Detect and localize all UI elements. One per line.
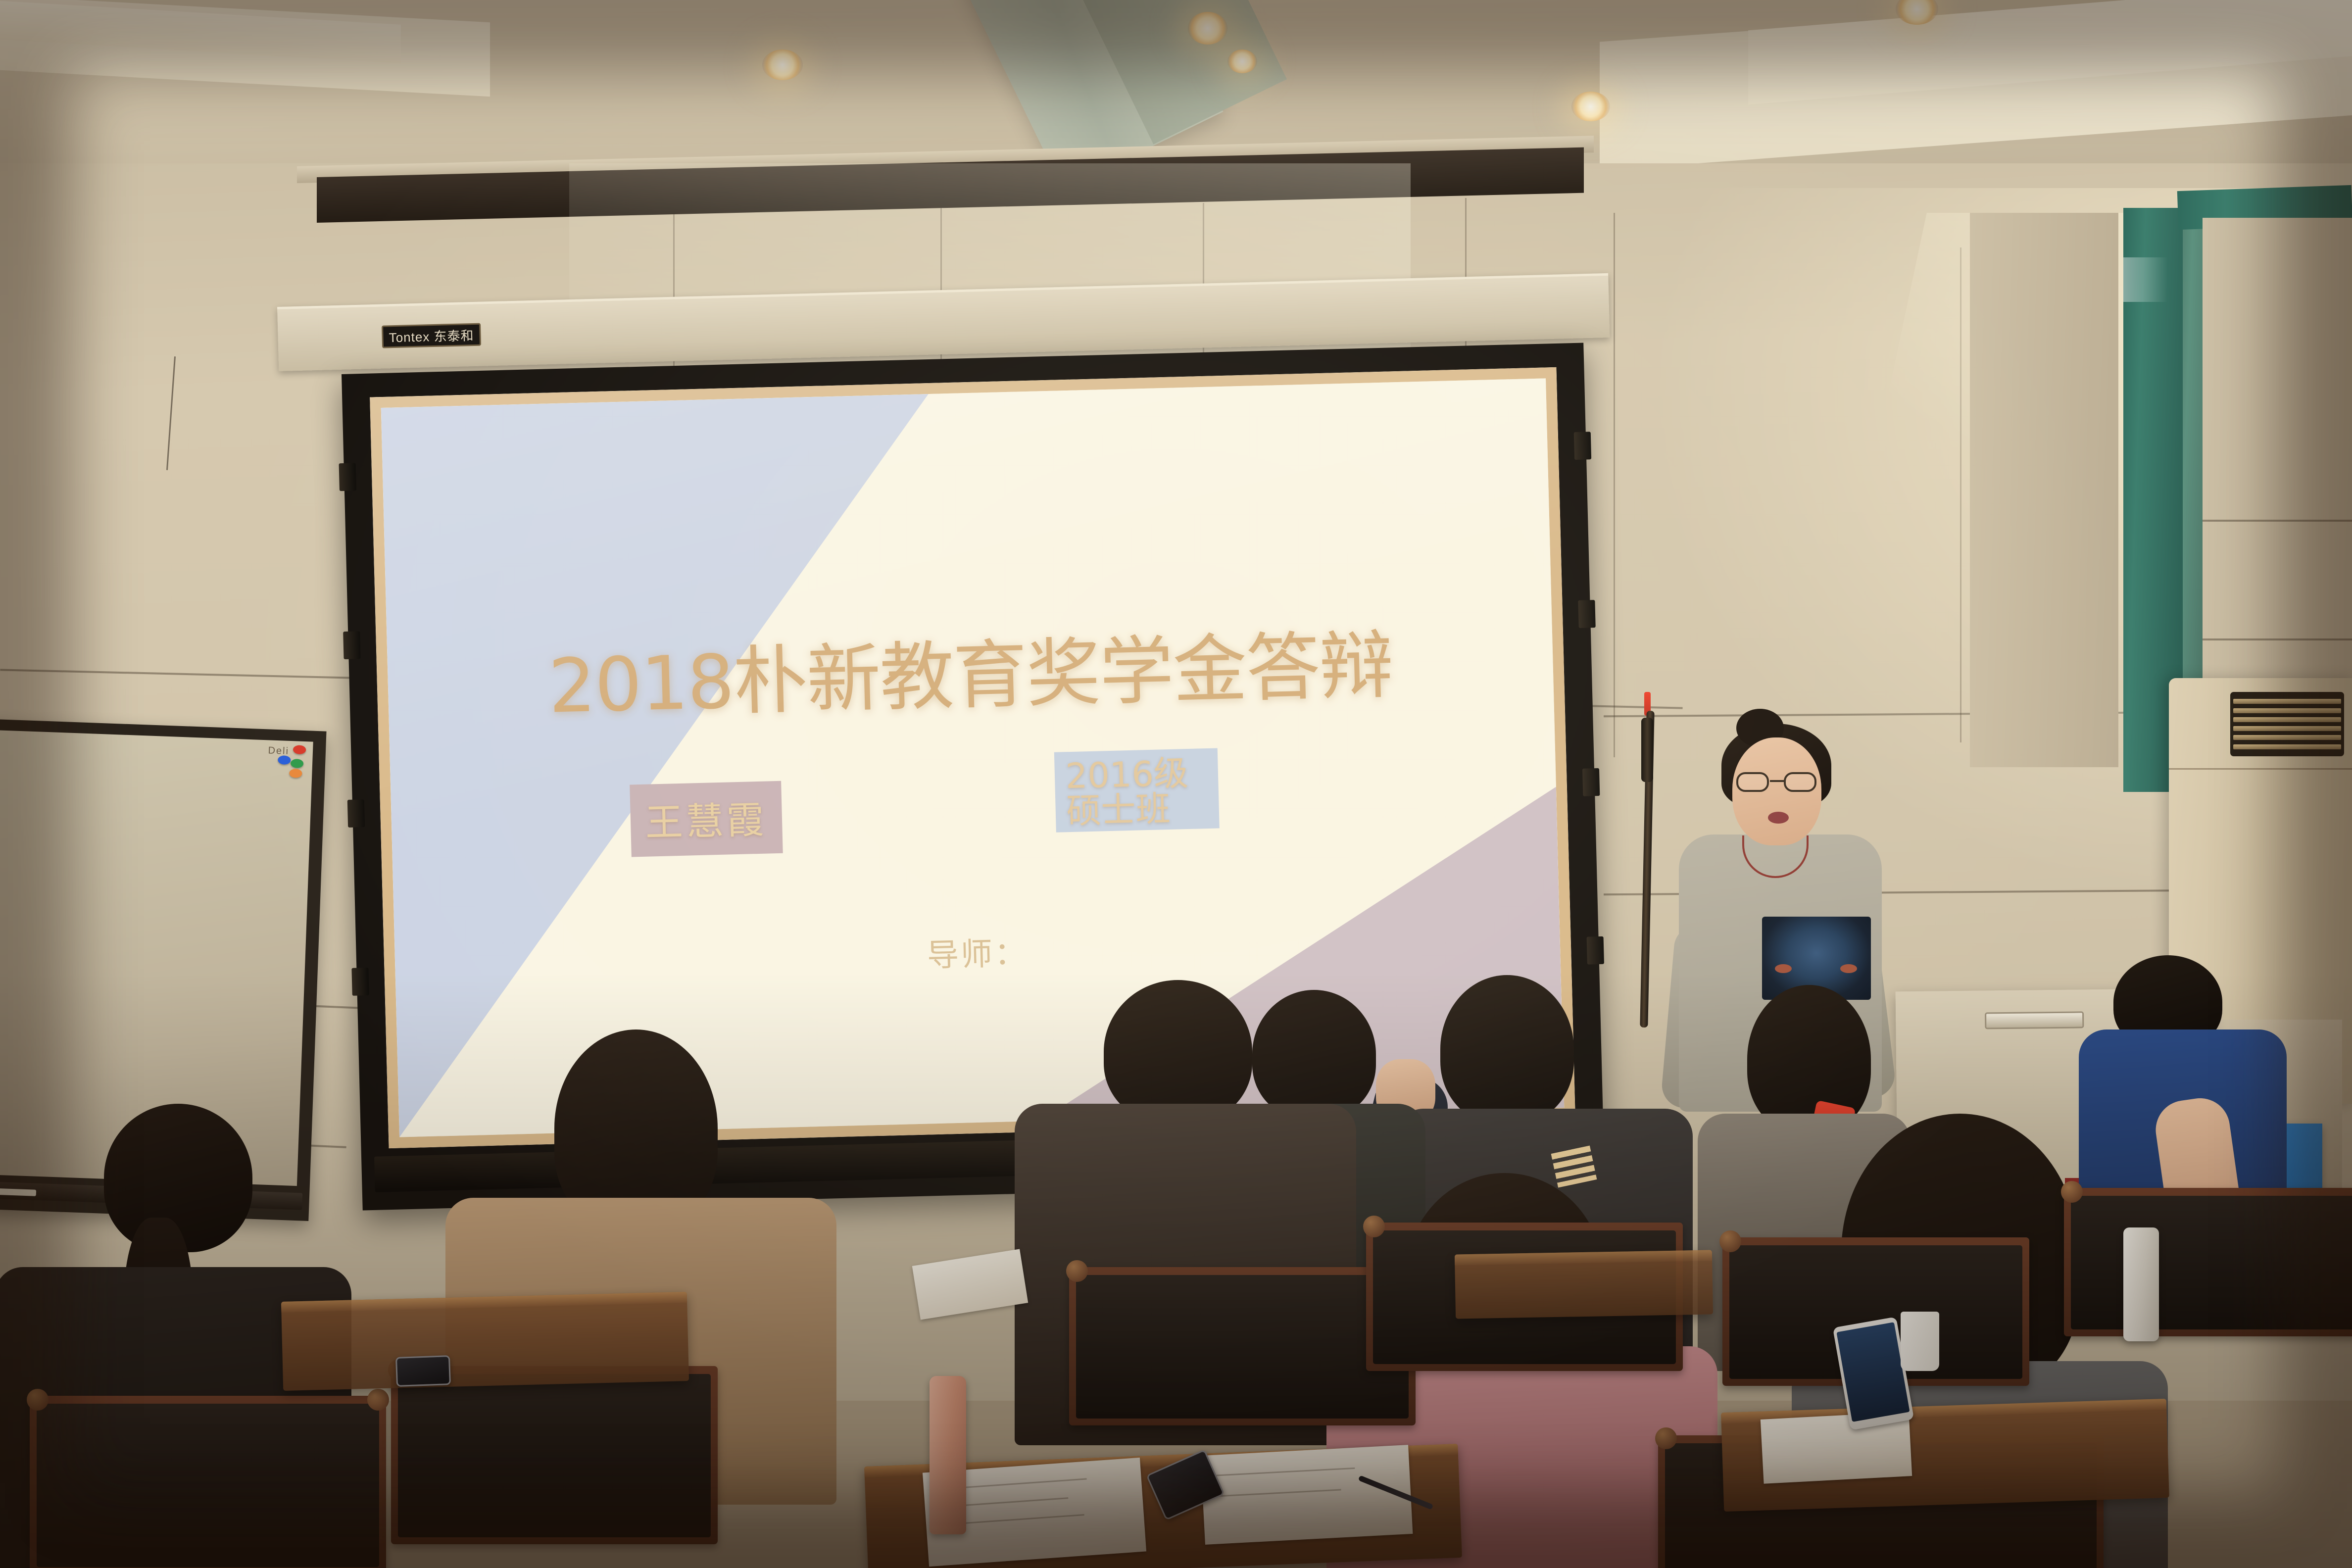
screen-clip-icon <box>343 631 360 659</box>
pilaster-highlight <box>2123 257 2168 302</box>
chair[interactable] <box>391 1366 718 1544</box>
downlight-icon <box>1227 49 1257 73</box>
screen-clip-icon <box>1578 600 1595 628</box>
smartphone[interactable] <box>395 1355 451 1387</box>
slide-presenter-name: 王慧霞 <box>630 781 783 857</box>
downlight-icon <box>1571 92 1610 121</box>
magnet-icon <box>278 755 291 765</box>
screen-clip-icon <box>347 799 365 828</box>
chair-finial-icon <box>1719 1230 1741 1252</box>
scoring-sheet[interactable] <box>1201 1445 1413 1545</box>
paper-cup[interactable] <box>1901 1312 1939 1371</box>
chair-finial-icon <box>1655 1427 1677 1449</box>
screen-clip-icon <box>1587 936 1604 965</box>
chair-backrest <box>1076 1275 1409 1419</box>
white-thermos[interactable] <box>2123 1227 2159 1341</box>
ac-panel-seam <box>2169 768 2352 770</box>
wall-seam <box>1960 247 1961 742</box>
chair-backrest <box>37 1404 379 1567</box>
magnet-icon <box>291 759 304 768</box>
screen-clip-icon <box>339 463 356 491</box>
wall-groove <box>2203 520 2352 522</box>
audience-hair <box>1252 990 1376 1119</box>
screen-clip-icon <box>351 968 369 996</box>
presenter-mouth <box>1768 812 1789 824</box>
wall-groove <box>2203 638 2352 640</box>
chair-finial-icon <box>2061 1181 2083 1203</box>
marker-icon[interactable] <box>0 1188 36 1196</box>
downlight-icon <box>1188 12 1227 45</box>
phone-screen <box>1836 1322 1910 1422</box>
screen-brand-label: Tontex 东泰和 <box>382 323 481 348</box>
cabinet-handle-icon[interactable] <box>1985 1011 2084 1029</box>
chair[interactable] <box>1069 1267 1416 1425</box>
ac-vent-icon <box>2230 692 2344 756</box>
audience-hair <box>1440 975 1574 1124</box>
chair-finial-icon <box>367 1389 389 1411</box>
chair[interactable] <box>2064 1188 2352 1336</box>
presentation-slide: 2018朴新教育奖学金答辩 王慧霞 2016级硕士班 导师： <box>370 367 1575 1148</box>
chair-finial-icon <box>1066 1260 1088 1282</box>
wall-seam <box>1614 213 1615 757</box>
chair-finial-icon <box>1363 1216 1385 1237</box>
pink-thermos[interactable] <box>930 1376 966 1534</box>
screen-clip-icon <box>1582 768 1600 796</box>
glasses-icon <box>1736 772 1818 792</box>
projected-slide-area: 2018朴新教育奖学金答辩 王慧霞 2016级硕士班 导师： <box>370 367 1575 1148</box>
desk <box>1455 1250 1713 1319</box>
lecture-room-photo: Tontex 东泰和 2018朴新教育奖学金答辩 王慧霞 2016级硕士班 导师… <box>0 0 2352 1568</box>
chair-backrest <box>398 1374 711 1537</box>
chair-finial-icon <box>27 1389 49 1411</box>
downlight-icon <box>762 49 803 80</box>
slide-canvas: 2018朴新教育奖学金答辩 王慧霞 2016级硕士班 导师： <box>381 378 1565 1137</box>
magnet-icon <box>289 769 302 778</box>
pointer-grip <box>1641 718 1653 782</box>
chair[interactable] <box>30 1396 386 1568</box>
wall-column-beige <box>1970 213 2118 767</box>
chair-backrest <box>2071 1196 2352 1329</box>
desk <box>281 1292 689 1391</box>
audience-hair <box>1104 980 1252 1124</box>
magnet-icon <box>293 745 306 754</box>
screen-clip-icon <box>1574 432 1591 460</box>
slide-class-info: 2016级硕士班 <box>1054 748 1220 833</box>
